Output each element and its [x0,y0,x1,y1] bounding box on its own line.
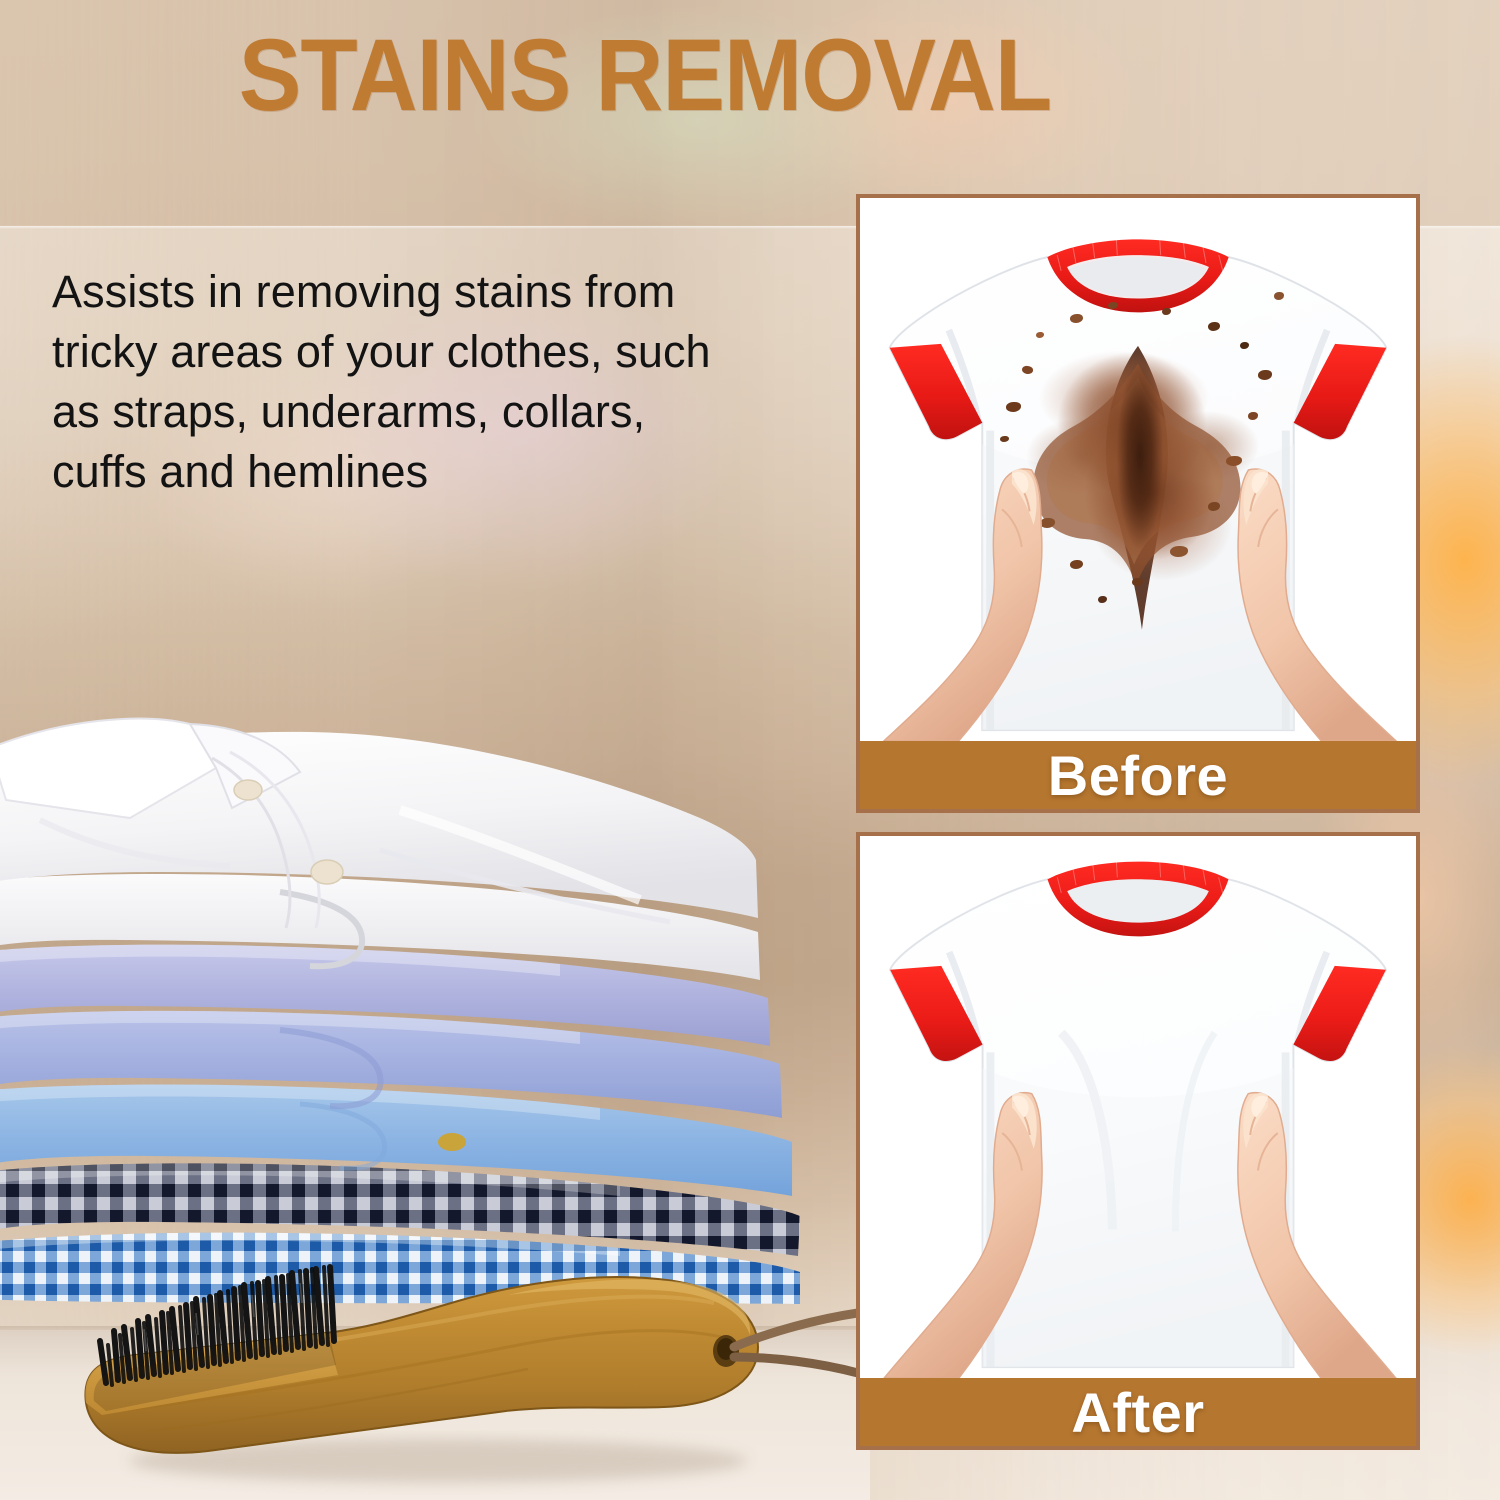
before-label: Before [860,741,1416,809]
description-text: Assists in removing stains from tricky a… [52,262,752,501]
left-hand [884,1093,1042,1378]
product-infographic: STAINS REMOVAL Assists in removing stain… [0,0,1500,1500]
shirt-button [311,860,343,884]
left-hand [884,469,1042,741]
right-hand [1238,1093,1396,1378]
shirt-button [234,780,262,800]
after-label: After [860,1378,1416,1446]
page-title: STAINS REMOVAL [52,24,1239,126]
hands-holding-shirt [860,836,1416,1378]
before-photo [860,198,1416,741]
laundry-brush-image [58,1255,858,1495]
after-panel: After [856,832,1420,1450]
before-panel: Before [856,194,1420,813]
right-hand [1238,469,1396,741]
after-photo [860,836,1416,1378]
laundry-stack-image [0,690,820,1330]
hands-holding-shirt [860,198,1416,741]
